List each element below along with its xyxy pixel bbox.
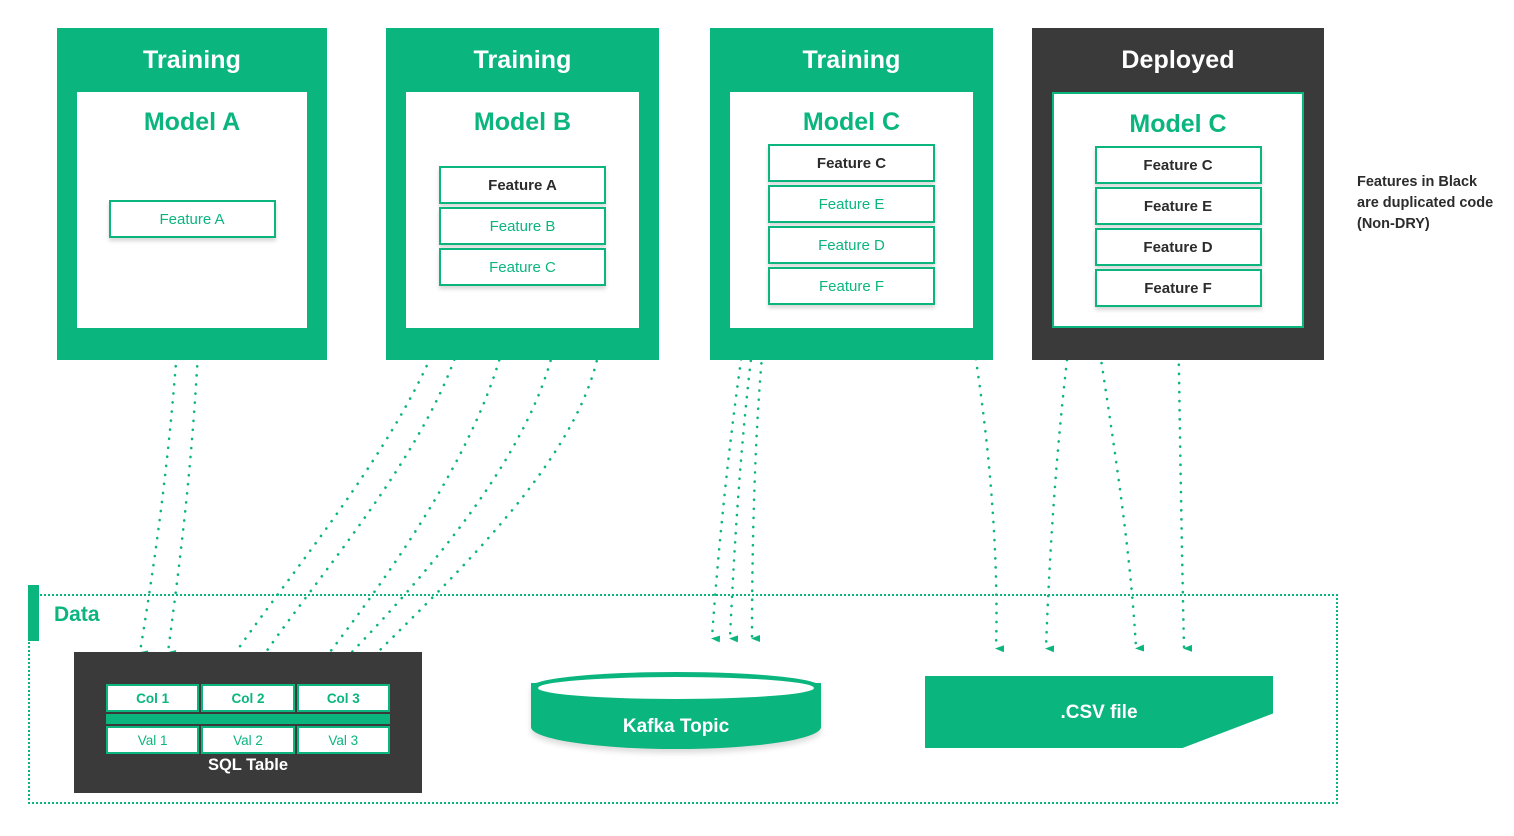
sql-table-node[interactable]: Col 1 Col 2 Col 3 Val 1 Val 2 Val 3 SQL … [74,652,422,793]
kafka-topic-label: Kafka Topic [531,716,821,738]
feature-list: Feature C Feature E Feature D Feature F [730,144,973,308]
csv-file-label: .CSV file [925,702,1273,724]
model-panel: Model A Feature A [77,92,307,328]
feature-chip[interactable]: Feature D [768,226,935,264]
sql-divider-bar [106,714,390,724]
feature-list: Feature C Feature E Feature D Feature F [1054,146,1302,310]
sql-header-cell: Col 1 [106,684,199,712]
legend-line-3: (Non-DRY) [1357,214,1514,235]
sql-value-cell: Val 2 [201,726,294,754]
sql-value-cell: Val 1 [106,726,199,754]
sql-value-cell: Val 3 [297,726,390,754]
sql-table-caption: SQL Table [74,756,422,775]
data-zone-accent-bar [28,585,39,641]
feature-chip[interactable]: Feature E [1095,187,1262,225]
model-column-c-training[interactable]: Training Model C Feature C Feature E Fea… [710,28,993,360]
sql-header-cell: Col 3 [297,684,390,712]
feature-chip[interactable]: Feature A [439,166,606,204]
model-panel: Model B Feature A Feature B Feature C [406,92,639,328]
model-column-a[interactable]: Training Model A Feature A [57,28,327,360]
data-zone-label: Data [54,604,100,625]
cylinder-top-icon [531,672,821,702]
model-title: Model A [77,92,307,135]
column-status-label: Deployed [1032,28,1324,73]
feature-chip[interactable]: Feature C [1095,146,1262,184]
feature-chip[interactable]: Feature E [768,185,935,223]
legend-line-1: Features in Black [1357,172,1514,193]
model-title: Model C [730,92,973,135]
feature-list: Feature A [77,200,307,241]
feature-chip[interactable]: Feature F [1095,269,1262,307]
sql-header-row: Col 1 Col 2 Col 3 [106,684,390,712]
legend-note: Features in Black are duplicated code (N… [1357,172,1514,235]
column-status-label: Training [57,28,327,73]
legend-line-2: are duplicated code [1357,193,1514,214]
column-status-label: Training [710,28,993,73]
sql-header-cell: Col 2 [201,684,294,712]
model-panel: Model C Feature C Feature E Feature D Fe… [730,92,973,328]
feature-chip[interactable]: Feature C [768,144,935,182]
feature-chip[interactable]: Feature C [439,248,606,286]
model-column-b[interactable]: Training Model B Feature A Feature B Fea… [386,28,659,360]
model-column-c-deployed[interactable]: Deployed Model C Feature C Feature E Fea… [1032,28,1324,360]
model-title: Model B [406,92,639,135]
sql-value-row: Val 1 Val 2 Val 3 [106,726,390,754]
diagram-canvas: Training Model A Feature A Training Mode… [0,0,1514,836]
feature-chip[interactable]: Feature F [768,267,935,305]
model-title: Model C [1054,94,1302,137]
csv-file-node[interactable]: .CSV file [925,676,1273,748]
model-panel: Model C Feature C Feature E Feature D Fe… [1052,92,1304,328]
feature-chip[interactable]: Feature D [1095,228,1262,266]
feature-chip[interactable]: Feature B [439,207,606,245]
feature-chip[interactable]: Feature A [109,200,276,238]
cylinder-inner-icon [538,677,814,699]
feature-list: Feature A Feature B Feature C [406,166,639,289]
column-status-label: Training [386,28,659,73]
kafka-topic-node[interactable]: Kafka Topic [531,672,821,754]
